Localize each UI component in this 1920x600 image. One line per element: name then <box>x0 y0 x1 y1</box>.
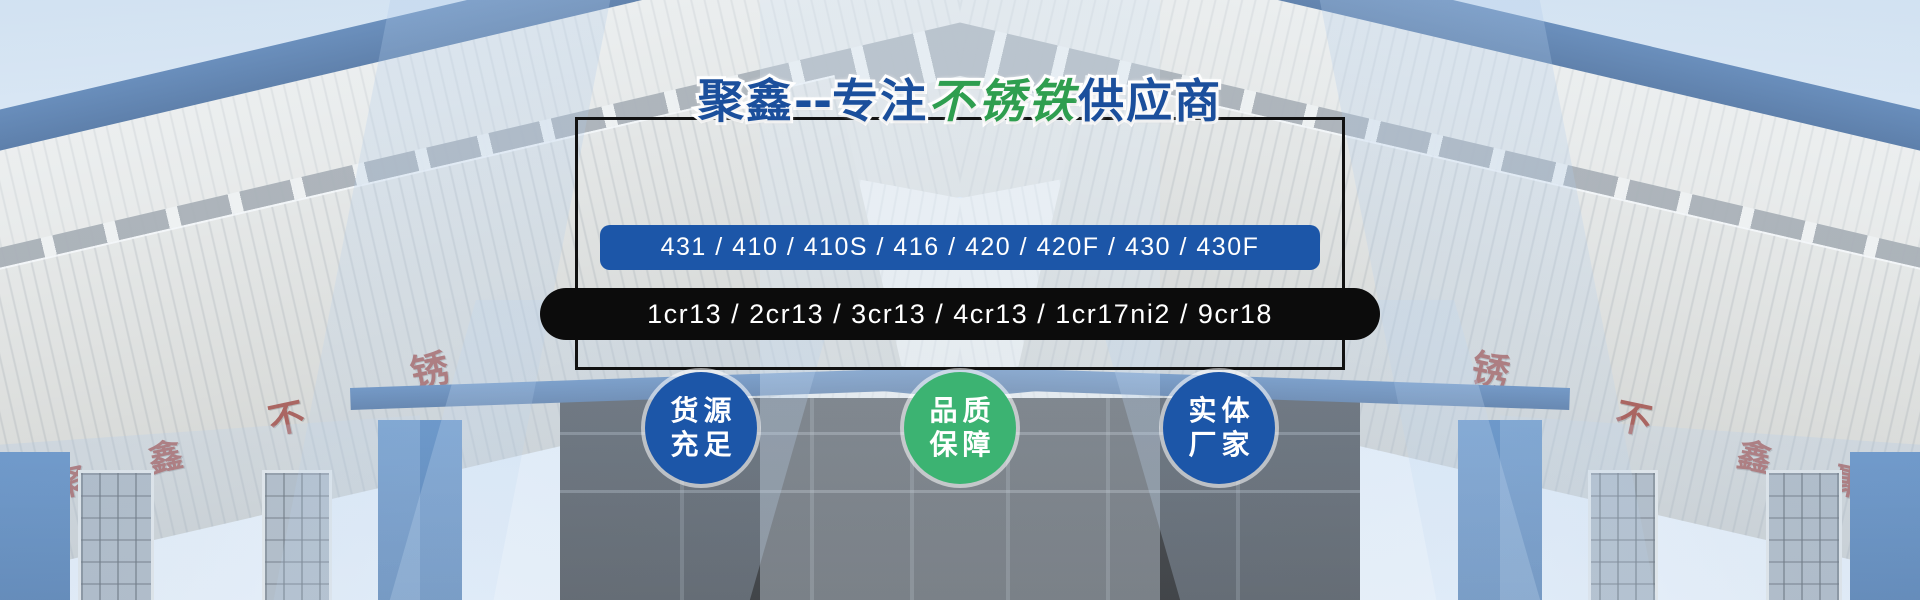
headline-suffix: 供应商 <box>1078 78 1222 124</box>
badge-supply: 货源 充足 <box>645 372 757 484</box>
feature-badges: 货源 充足 品质 保障 实体 厂家 <box>575 368 1345 488</box>
headline-dash: -- <box>794 78 832 124</box>
headline-highlight: 不锈铁 <box>928 78 1078 124</box>
banner-headline: 聚鑫--专注不锈铁供应商 <box>0 78 1920 124</box>
promo-banner: 聚 鑫 不 锈 <box>0 0 1920 600</box>
headline-mid: 专注 <box>832 78 928 124</box>
badge-supply-line2: 充足 <box>665 428 736 462</box>
badge-quality: 品质 保障 <box>904 372 1016 484</box>
banner-content: 聚鑫--专注不锈铁供应商 431 / 410 / 410S / 416 / 42… <box>0 0 1920 600</box>
grade-bar-black-text: 1cr13 / 2cr13 / 3cr13 / 4cr13 / 1cr17ni2… <box>647 299 1273 330</box>
badge-factory: 实体 厂家 <box>1163 372 1275 484</box>
grade-bar-black: 1cr13 / 2cr13 / 3cr13 / 4cr13 / 1cr17ni2… <box>540 288 1380 340</box>
badge-quality-line2: 保障 <box>924 428 995 462</box>
badge-factory-line2: 厂家 <box>1183 428 1254 462</box>
grade-bar-blue: 431 / 410 / 410S / 416 / 420 / 420F / 43… <box>600 225 1320 270</box>
grade-bar-blue-text: 431 / 410 / 410S / 416 / 420 / 420F / 43… <box>661 233 1260 262</box>
badge-factory-line1: 实体 <box>1183 394 1254 428</box>
badge-supply-line1: 货源 <box>665 394 736 428</box>
badge-quality-line1: 品质 <box>924 394 995 428</box>
headline-brand: 聚鑫 <box>698 78 794 124</box>
